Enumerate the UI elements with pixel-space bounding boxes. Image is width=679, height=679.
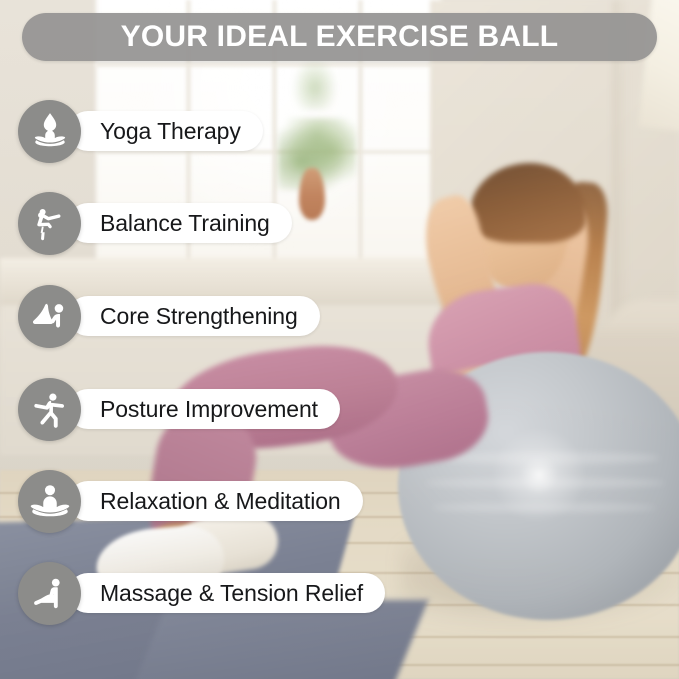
feature-label-pill: Core Strengthening <box>68 296 320 336</box>
massage-table-icon <box>18 562 81 625</box>
feature-row[interactable]: Core Strengthening <box>18 283 320 349</box>
feature-label-pill: Massage & Tension Relief <box>68 573 385 613</box>
feature-label: Massage & Tension Relief <box>100 582 363 605</box>
feature-label: Yoga Therapy <box>100 120 241 143</box>
feature-row[interactable]: Yoga Therapy <box>18 98 263 164</box>
core-crunch-icon <box>18 285 81 348</box>
feature-row[interactable]: Posture Improvement <box>18 376 340 442</box>
feature-label: Posture Improvement <box>100 398 318 421</box>
warrior-pose-icon <box>18 378 81 441</box>
feature-row[interactable]: Relaxation & Meditation <box>18 468 363 534</box>
feature-label-pill: Posture Improvement <box>68 389 340 429</box>
feature-label-pill: Relaxation & Meditation <box>68 481 363 521</box>
lotus-pose-icon <box>18 100 81 163</box>
feature-label-pill: Balance Training <box>68 203 292 243</box>
meditation-seated-icon <box>18 470 81 533</box>
page-title: YOUR IDEAL EXERCISE BALL <box>121 22 559 52</box>
tree-pose-icon <box>18 192 81 255</box>
feature-row[interactable]: Balance Training <box>18 190 292 256</box>
feature-label: Balance Training <box>100 212 270 235</box>
feature-row[interactable]: Massage & Tension Relief <box>18 560 385 626</box>
feature-label-pill: Yoga Therapy <box>68 111 263 151</box>
infographic-canvas: YOUR IDEAL EXERCISE BALL Yoga Therapy <box>0 0 679 679</box>
feature-label: Core Strengthening <box>100 305 298 328</box>
feature-label: Relaxation & Meditation <box>100 490 341 513</box>
page-title-banner: YOUR IDEAL EXERCISE BALL <box>22 13 657 61</box>
